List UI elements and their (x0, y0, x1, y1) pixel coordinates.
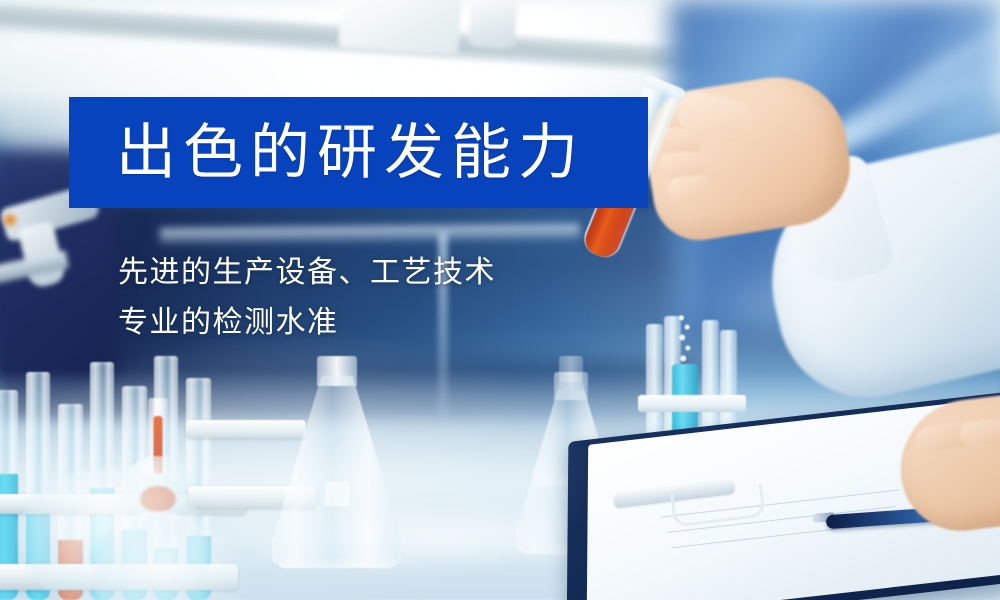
erlenmeyer-flask (272, 356, 402, 568)
bubbles (676, 312, 694, 370)
subtitle-block: 先进的生产设备、工艺技术 专业的检测水准 (118, 248, 638, 348)
microscope-indicator-light (4, 214, 16, 226)
flask-body (272, 376, 402, 568)
subtitle-line-1: 先进的生产设备、工艺技术 (118, 248, 638, 298)
subtitle-line-2: 专业的检测水准 (118, 298, 638, 348)
page-title: 出色的研发能力 (69, 123, 585, 183)
ceiling-fixture-icon (338, 0, 462, 56)
rack-upper-frame (638, 395, 746, 412)
headline-banner: 出色的研发能力 (69, 97, 648, 208)
ceiling-fixture-small-icon (468, 0, 518, 50)
flask-label (325, 482, 349, 506)
lab-hero-banner: 出色的研发能力 先进的生产设备、工艺技术 专业的检测水准 (0, 0, 1000, 600)
